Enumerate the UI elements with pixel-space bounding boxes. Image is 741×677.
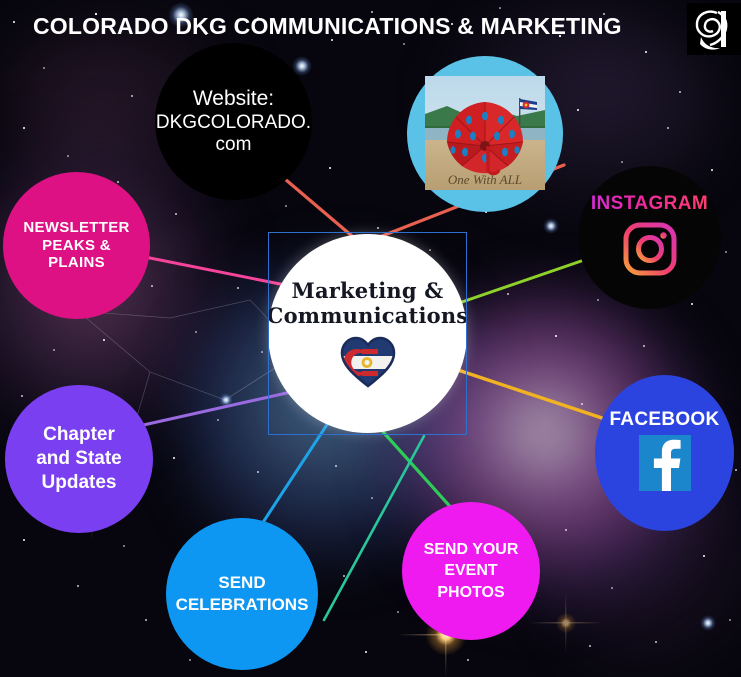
header-bar: COLORADO DKG COMMUNICATIONS & MARKETING xyxy=(0,0,741,56)
facebook-icon[interactable] xyxy=(637,435,693,498)
dkg-rose-icon xyxy=(687,3,741,55)
page-title: COLORADO DKG COMMUNICATIONS & MARKETING xyxy=(33,13,622,40)
node-facebook[interactable]: FACEBOOK xyxy=(595,375,734,531)
node-newsletter-line1: NEWSLETTER xyxy=(23,219,129,236)
selection-rectangle[interactable] xyxy=(268,232,467,435)
node-chapter-line1: Chapter xyxy=(43,423,115,447)
photo-caption: One With ALL xyxy=(448,172,522,187)
node-eventphotos-line1: SEND YOUR xyxy=(424,539,519,561)
connector-center-facebook xyxy=(458,370,620,424)
node-newsletter-line3: PLAINS xyxy=(48,254,105,271)
node-facebook-label: FACEBOOK xyxy=(609,409,719,431)
connector-center-celebrations xyxy=(258,420,330,530)
node-eventphotos-line3: PHOTOS xyxy=(437,582,504,604)
umbrella-beach-photo[interactable]: One With ALL xyxy=(425,76,545,190)
node-send-celebrations[interactable]: SEND CELEBRATIONS xyxy=(166,518,318,670)
connector-center-instagram xyxy=(462,258,590,302)
node-website[interactable]: Website: DKGCOLORADO. com xyxy=(155,43,312,200)
node-website-line3: com xyxy=(216,134,252,156)
node-send-event-photos[interactable]: SEND YOUR EVENT PHOTOS xyxy=(402,502,540,640)
infographic-canvas: COLORADO DKG COMMUNICATIONS & MARKETING … xyxy=(0,0,741,677)
node-eventphotos-line2: EVENT xyxy=(444,560,497,582)
node-instagram[interactable]: INSTAGRAM xyxy=(578,166,721,309)
connector-center-eventphotos xyxy=(376,424,455,512)
instagram-icon[interactable] xyxy=(622,221,678,282)
node-newsletter-line2: PEAKS & xyxy=(42,237,111,254)
node-newsletter[interactable]: NEWSLETTER PEAKS & PLAINS xyxy=(3,172,150,319)
node-chapter-line3: Updates xyxy=(42,471,117,495)
node-website-line1: Website: xyxy=(193,87,274,111)
node-chapter-line2: and State xyxy=(36,447,122,471)
node-chapter-updates[interactable]: Chapter and State Updates xyxy=(5,385,153,533)
node-celebrations-line1: SEND xyxy=(218,572,265,594)
node-website-line2: DKGCOLORADO. xyxy=(156,112,311,134)
node-instagram-label: INSTAGRAM xyxy=(591,193,708,215)
node-celebrations-line2: CELEBRATIONS xyxy=(176,594,309,616)
